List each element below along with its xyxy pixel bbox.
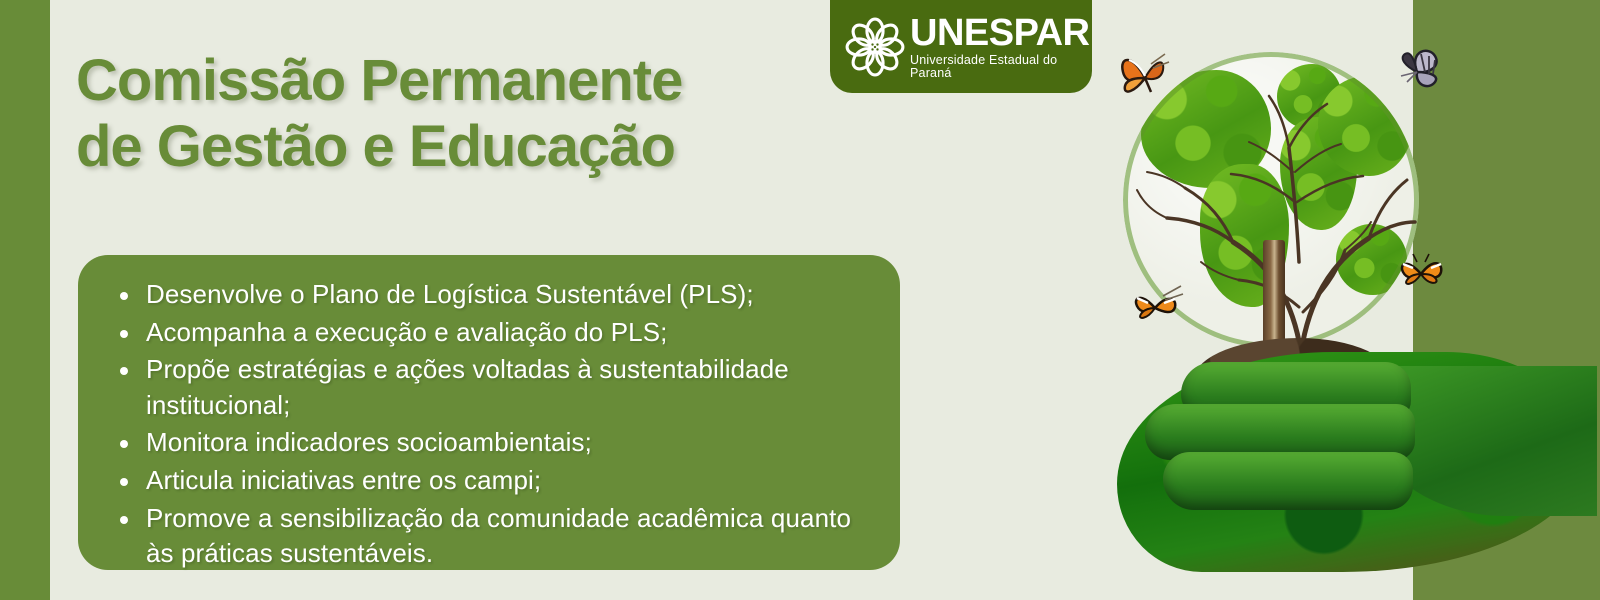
hand-finger-2 (1145, 404, 1415, 460)
headline-line-1: Comissão Permanente (76, 48, 682, 113)
left-green-bar (0, 0, 50, 600)
headline-line-2: de Gestão e Educação (76, 114, 816, 180)
butterfly-orange-upper-left-icon (1117, 48, 1173, 102)
bare-branches-icon (1123, 52, 1419, 382)
butterfly-orange-lower-left-icon (1129, 282, 1187, 328)
responsibilities-card: Desenvolve o Plano de Logística Sustentá… (78, 255, 900, 570)
banner-root: Comissão Permanente de Gestão e Educação… (0, 0, 1600, 600)
logo-wordmark: UNESPAR (910, 14, 1092, 52)
hand-finger-3 (1163, 452, 1413, 510)
responsibilities-list: Desenvolve o Plano de Logística Sustentá… (112, 277, 870, 572)
soil-mound-icon (1195, 338, 1395, 404)
tree-trunk-icon (1263, 240, 1285, 380)
globe-rim (1123, 52, 1419, 348)
hand-finger-1 (1181, 362, 1411, 420)
right-green-panel (1413, 0, 1600, 600)
continent-north-america (1141, 70, 1271, 188)
unespar-logo-plate[interactable]: UNESPAR Universidade Estadual do Paraná (830, 0, 1092, 93)
continent-south-america (1200, 164, 1289, 306)
leafy-earth-globe-icon (1123, 52, 1419, 348)
globe-background (1123, 52, 1419, 348)
list-item: Articula iniciativas entre os campi; (112, 463, 870, 499)
list-item: Promove a sensibilização da comunidade a… (112, 501, 870, 572)
logo-tagline: Universidade Estadual do Paraná (910, 54, 1092, 79)
continent-africa (1280, 117, 1357, 229)
continent-australia (1336, 224, 1407, 295)
continent-europe (1277, 64, 1342, 129)
list-item: Propõe estratégias e ações voltadas à su… (112, 352, 870, 423)
list-item: Monitora indicadores socioambientais; (112, 425, 870, 461)
list-item: Acompanha a execução e avaliação do PLS; (112, 315, 870, 351)
logo-text-group: UNESPAR Universidade Estadual do Paraná (910, 14, 1092, 79)
list-item: Desenvolve o Plano de Logística Sustentá… (112, 277, 870, 313)
continent-asia (1318, 76, 1413, 177)
unespar-flower-icon (844, 16, 906, 78)
page-title: Comissão Permanente de Gestão e Educação (76, 48, 816, 179)
